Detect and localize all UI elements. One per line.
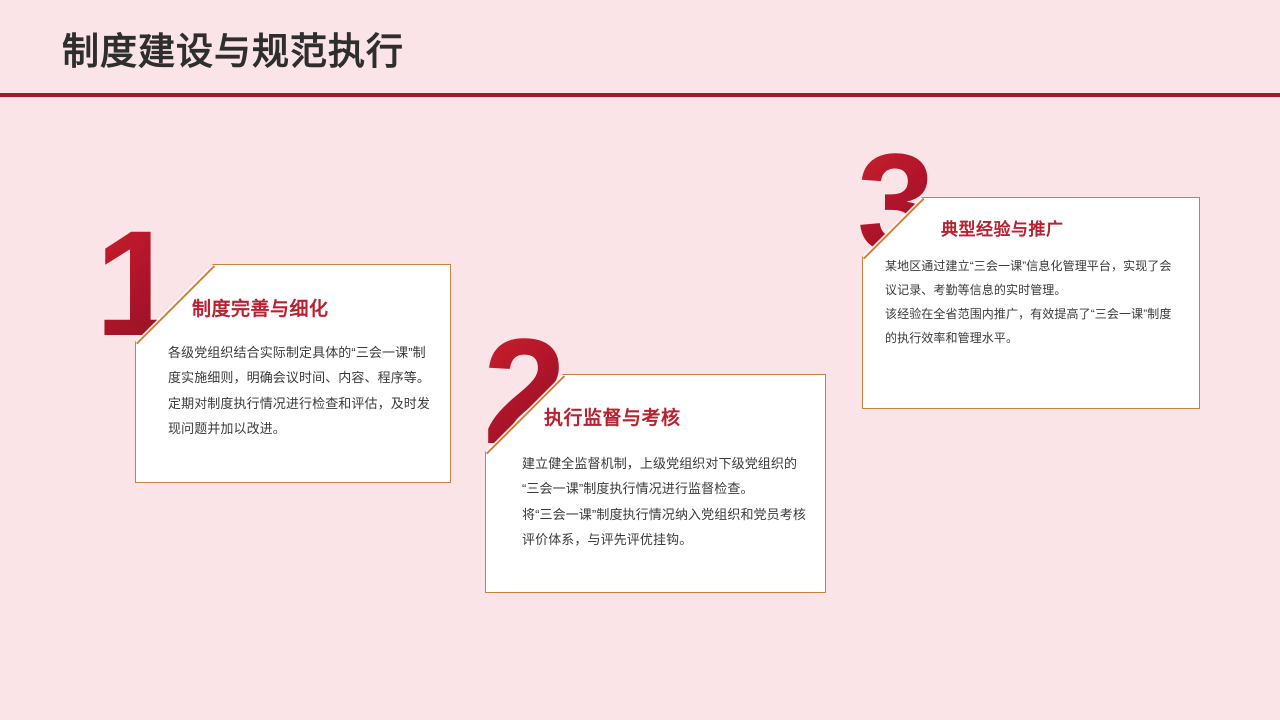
card-paragraph: 某地区通过建立“三会一课”信息化管理平台，实现了会议记录、考勤等信息的实时管理。 xyxy=(885,254,1183,302)
card-paragraph: 该经验在全省范围内推广，有效提高了“三会一课”制度的执行效率和管理水平。 xyxy=(885,302,1183,350)
card-body-wrapper: 典型经验与推广 某地区通过建立“三会一课”信息化管理平台，实现了会议记录、考勤等… xyxy=(863,198,1199,408)
content-card-2[interactable]: 执行监督与考核 建立健全监督机制，上级党组织对下级党组织的“三会一课”制度执行情… xyxy=(485,374,826,593)
card-paragraph: 将“三会一课”制度执行情况纳入党组织和党员考核评价体系，与评先评优挂钩。 xyxy=(522,502,807,553)
content-card-1[interactable]: 制度完善与细化 各级党组织结合实际制定具体的“三会一课”制度实施细则，明确会议时… xyxy=(135,264,451,483)
card-heading-3: 典型经验与推广 xyxy=(941,215,1064,240)
card-text-2: 建立健全监督机制，上级党组织对下级党组织的“三会一课”制度执行情况进行监督检查。… xyxy=(522,451,807,552)
card-text-1: 各级党组织结合实际制定具体的“三会一课”制度实施细则，明确会议时间、内容、程序等… xyxy=(168,340,434,441)
page-title: 制度建设与规范执行 xyxy=(62,31,404,74)
slide-canvas: 制度建设与规范执行 1 制度完善与细化 各级党组织结合实际制定具体的“三会一课”… xyxy=(0,0,1280,720)
card-paragraph: 各级党组织结合实际制定具体的“三会一课”制度实施细则，明确会议时间、内容、程序等… xyxy=(168,340,434,391)
card-heading-1: 制度完善与细化 xyxy=(192,294,329,321)
card-body-wrapper: 制度完善与细化 各级党组织结合实际制定具体的“三会一课”制度实施细则，明确会议时… xyxy=(136,265,450,482)
card-body-wrapper: 执行监督与考核 建立健全监督机制，上级党组织对下级党组织的“三会一课”制度执行情… xyxy=(486,375,825,592)
card-text-3: 某地区通过建立“三会一课”信息化管理平台，实现了会议记录、考勤等信息的实时管理。… xyxy=(885,254,1183,350)
title-divider xyxy=(0,93,1280,97)
content-card-3[interactable]: 典型经验与推广 某地区通过建立“三会一课”信息化管理平台，实现了会议记录、考勤等… xyxy=(862,197,1200,409)
card-paragraph: 定期对制度执行情况进行检查和评估，及时发现问题并加以改进。 xyxy=(168,391,434,442)
card-paragraph: 建立健全监督机制，上级党组织对下级党组织的“三会一课”制度执行情况进行监督检查。 xyxy=(522,451,807,502)
card-heading-2: 执行监督与考核 xyxy=(544,403,681,430)
